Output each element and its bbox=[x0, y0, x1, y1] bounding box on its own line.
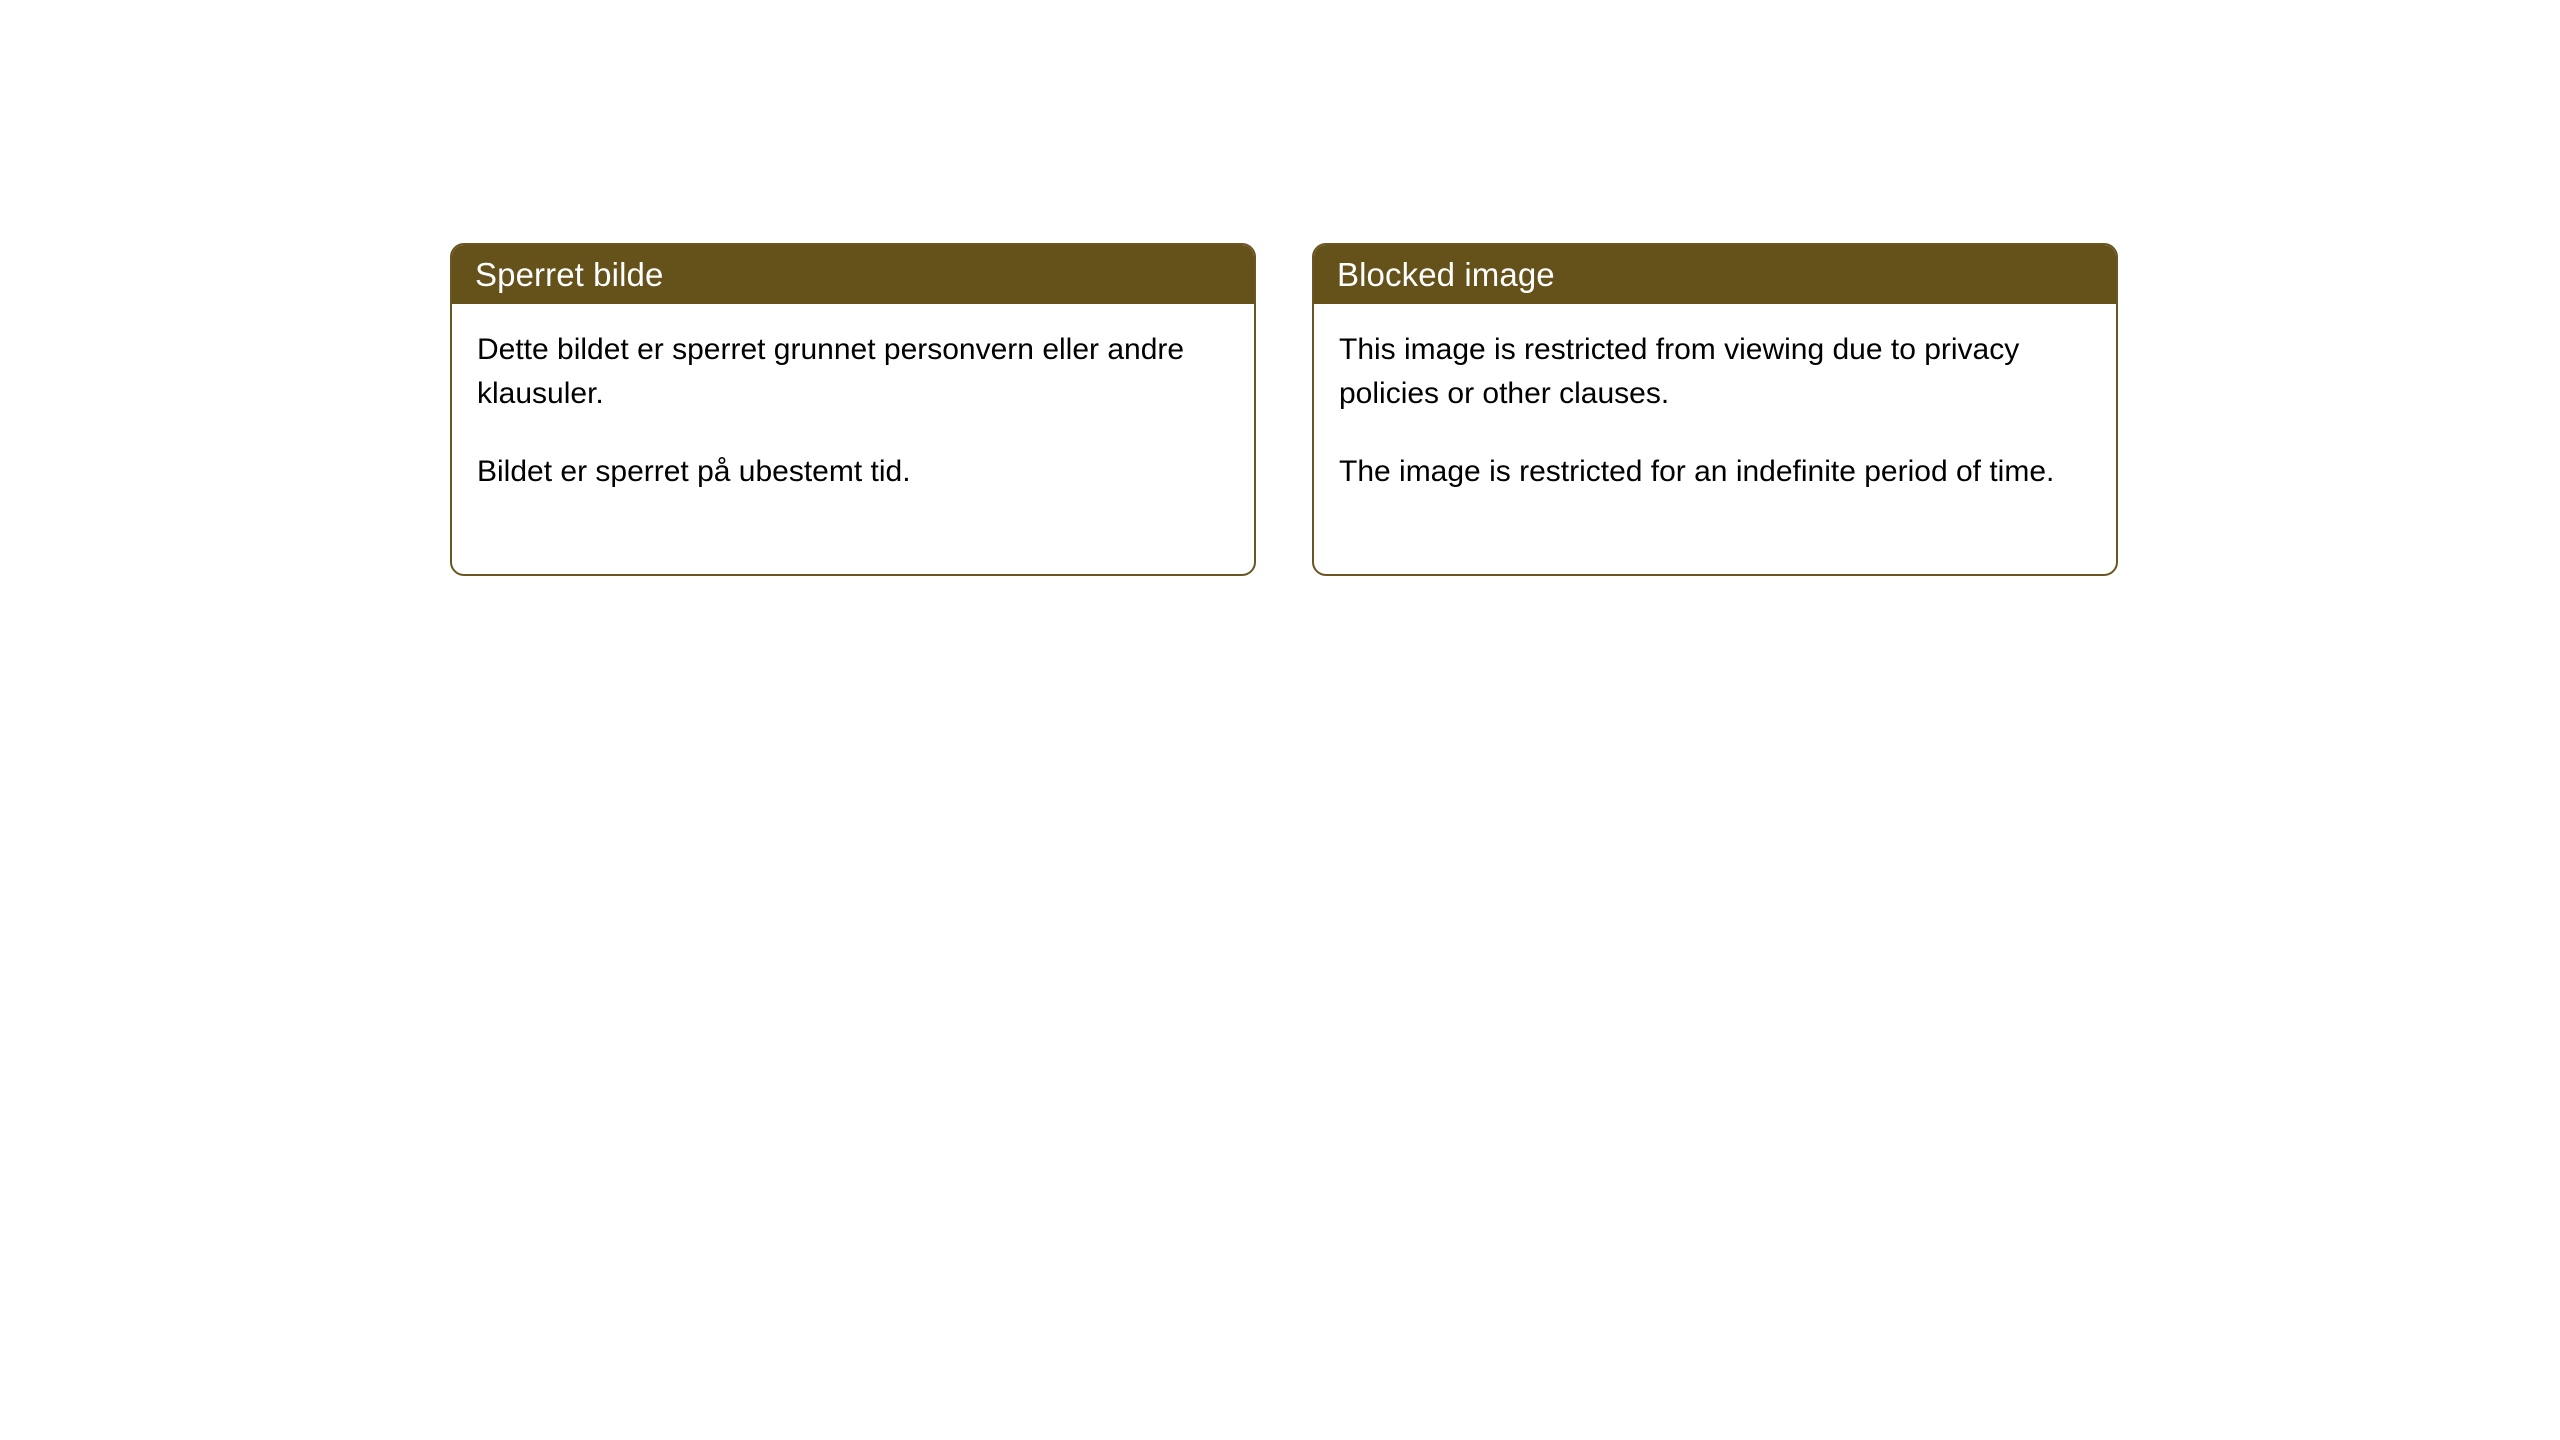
card-header-no: Sperret bilde bbox=[452, 245, 1254, 304]
page-root: Sperret bilde Dette bildet er sperret gr… bbox=[0, 0, 2560, 1440]
card-body-no: Dette bildet er sperret grunnet personve… bbox=[452, 304, 1254, 494]
card-paragraph-reason-en: This image is restricted from viewing du… bbox=[1339, 328, 2069, 416]
card-paragraph-duration-en: The image is restricted for an indefinit… bbox=[1339, 450, 2069, 494]
card-paragraph-reason-no: Dette bildet er sperret grunnet personve… bbox=[477, 328, 1207, 416]
card-header-en: Blocked image bbox=[1314, 245, 2116, 304]
blocked-image-notice-card-en: Blocked image This image is restricted f… bbox=[1312, 243, 2118, 576]
card-title-no: Sperret bilde bbox=[475, 256, 663, 294]
card-body-en: This image is restricted from viewing du… bbox=[1314, 304, 2116, 494]
blocked-image-notice-card-no: Sperret bilde Dette bildet er sperret gr… bbox=[450, 243, 1256, 576]
card-title-en: Blocked image bbox=[1337, 256, 1555, 294]
card-paragraph-duration-no: Bildet er sperret på ubestemt tid. bbox=[477, 450, 1207, 494]
